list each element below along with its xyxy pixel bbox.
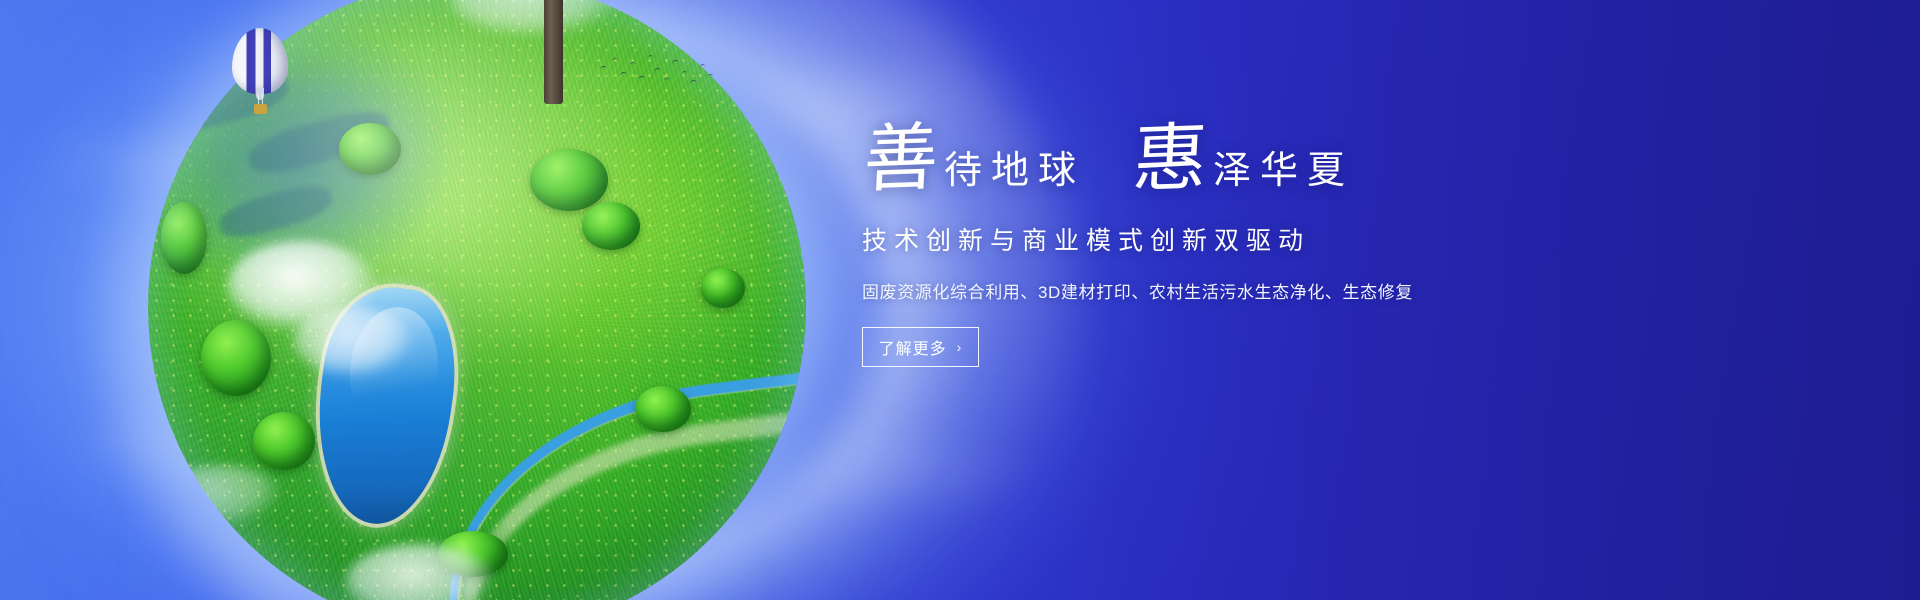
page-subtitle: 技术创新与商业模式创新双驱动: [862, 221, 1622, 257]
headline-phrase-one: 善 待地球: [862, 126, 1085, 197]
headline-rest-chars: 待地球: [944, 152, 1085, 197]
headline-accent-char: 善: [862, 123, 948, 197]
headline-rest-chars: 泽华夏: [1213, 152, 1354, 197]
learn-more-label: 了解更多: [879, 335, 947, 359]
hero-copy: 善 待地球 惠 泽华夏 技术创新与商业模式创新双驱动 固废资源化综合利用、3D建…: [862, 126, 1622, 367]
chevron-right-icon: ›: [957, 339, 963, 355]
page-description: 固废资源化综合利用、3D建材打印、农村生活污水生态净化、生态修复: [862, 278, 1622, 303]
hero-banner: 善 待地球 惠 泽华夏 技术创新与商业模式创新双驱动 固废资源化综合利用、3D建…: [0, 0, 1920, 600]
headline-phrase-two: 惠 泽华夏: [1131, 126, 1354, 197]
headline-accent-char: 惠: [1131, 123, 1217, 197]
page-title: 善 待地球 惠 泽华夏: [862, 126, 1622, 197]
learn-more-button[interactable]: 了解更多 ›: [862, 327, 979, 367]
